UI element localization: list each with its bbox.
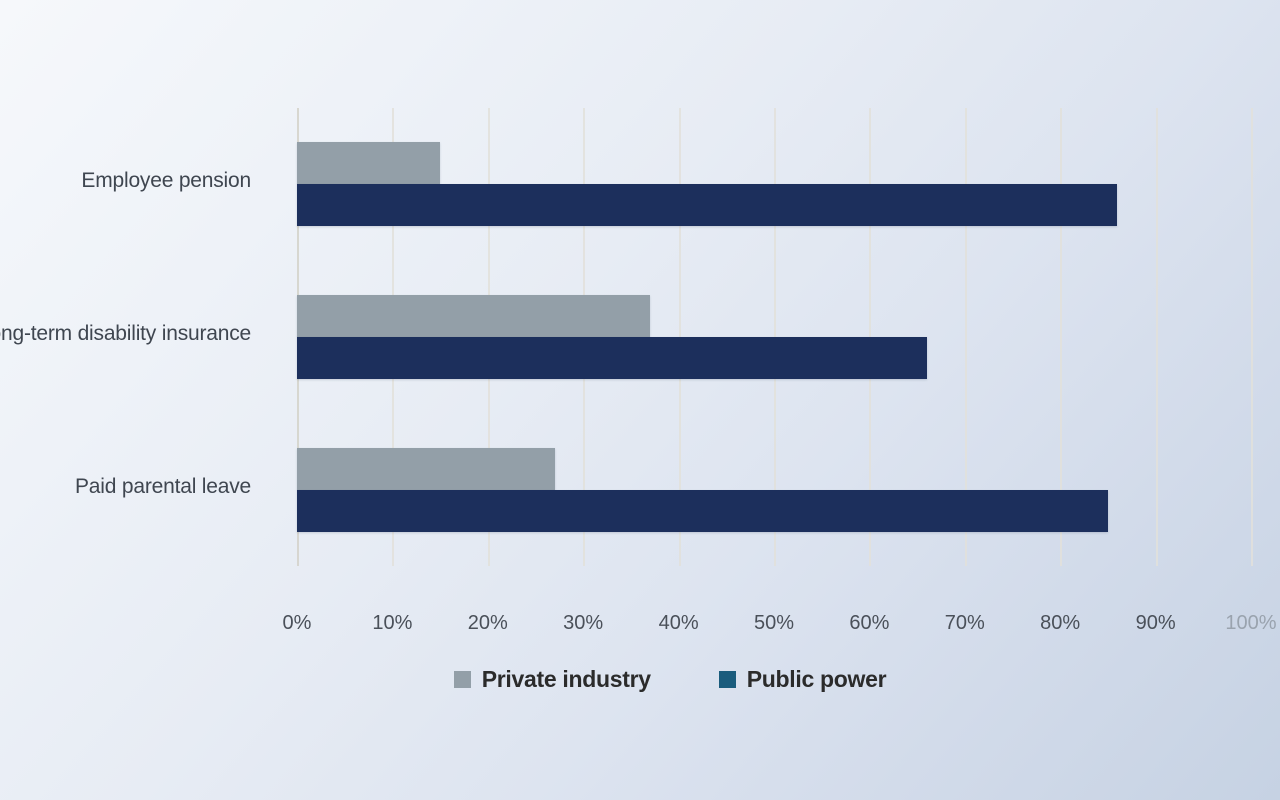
bar-private-industry[interactable] [297, 295, 650, 337]
x-axis-tick-label: 90% [1136, 612, 1176, 635]
category-label: Paid parental leave [0, 475, 251, 499]
bar-public-power[interactable] [297, 490, 1108, 532]
square-swatch-icon [719, 671, 736, 688]
chart-legend: Private industry Public power [0, 666, 1280, 693]
x-axis-tick-label: 20% [468, 612, 508, 635]
bar-public-power[interactable] [297, 337, 927, 379]
x-axis-tick-label: 10% [372, 612, 412, 635]
gridline-100pct [1251, 108, 1253, 566]
bar-public-power[interactable] [297, 184, 1117, 226]
x-axis-tick-label: 50% [754, 612, 794, 635]
bar-row [297, 490, 1251, 532]
bar-group: Paid parental leave [297, 448, 1251, 532]
x-axis-tick-label: 80% [1040, 612, 1080, 635]
bar-groups: Employee pensionLong-term disability ins… [297, 108, 1251, 566]
legend-label: Private industry [482, 666, 651, 693]
category-label: Long-term disability insurance [0, 322, 251, 346]
square-swatch-icon [454, 671, 471, 688]
x-axis: 0%10%20%30%40%50%60%70%80%90%100% [297, 612, 1251, 642]
legend-label: Public power [747, 666, 887, 693]
bar-group: Employee pension [297, 142, 1251, 226]
bar-row [297, 295, 1251, 337]
legend-item-public-power[interactable]: Public power [719, 666, 887, 693]
bar-row [297, 142, 1251, 184]
bar-group: Long-term disability insurance [297, 295, 1251, 379]
bar-row [297, 337, 1251, 379]
bar-private-industry[interactable] [297, 448, 555, 490]
x-axis-tick-label: 70% [945, 612, 985, 635]
x-axis-tick-label: 40% [659, 612, 699, 635]
bar-chart: Employee pensionLong-term disability ins… [0, 0, 1280, 800]
bar-private-industry[interactable] [297, 142, 440, 184]
bar-row [297, 184, 1251, 226]
x-axis-tick-label: 60% [849, 612, 889, 635]
legend-item-private-industry[interactable]: Private industry [454, 666, 651, 693]
x-axis-tick-label: 100% [1225, 612, 1276, 635]
plot-area: Employee pensionLong-term disability ins… [297, 108, 1251, 566]
bar-row [297, 448, 1251, 490]
x-axis-tick-label: 30% [563, 612, 603, 635]
x-axis-tick-label: 0% [283, 612, 312, 635]
category-label: Employee pension [0, 169, 251, 193]
